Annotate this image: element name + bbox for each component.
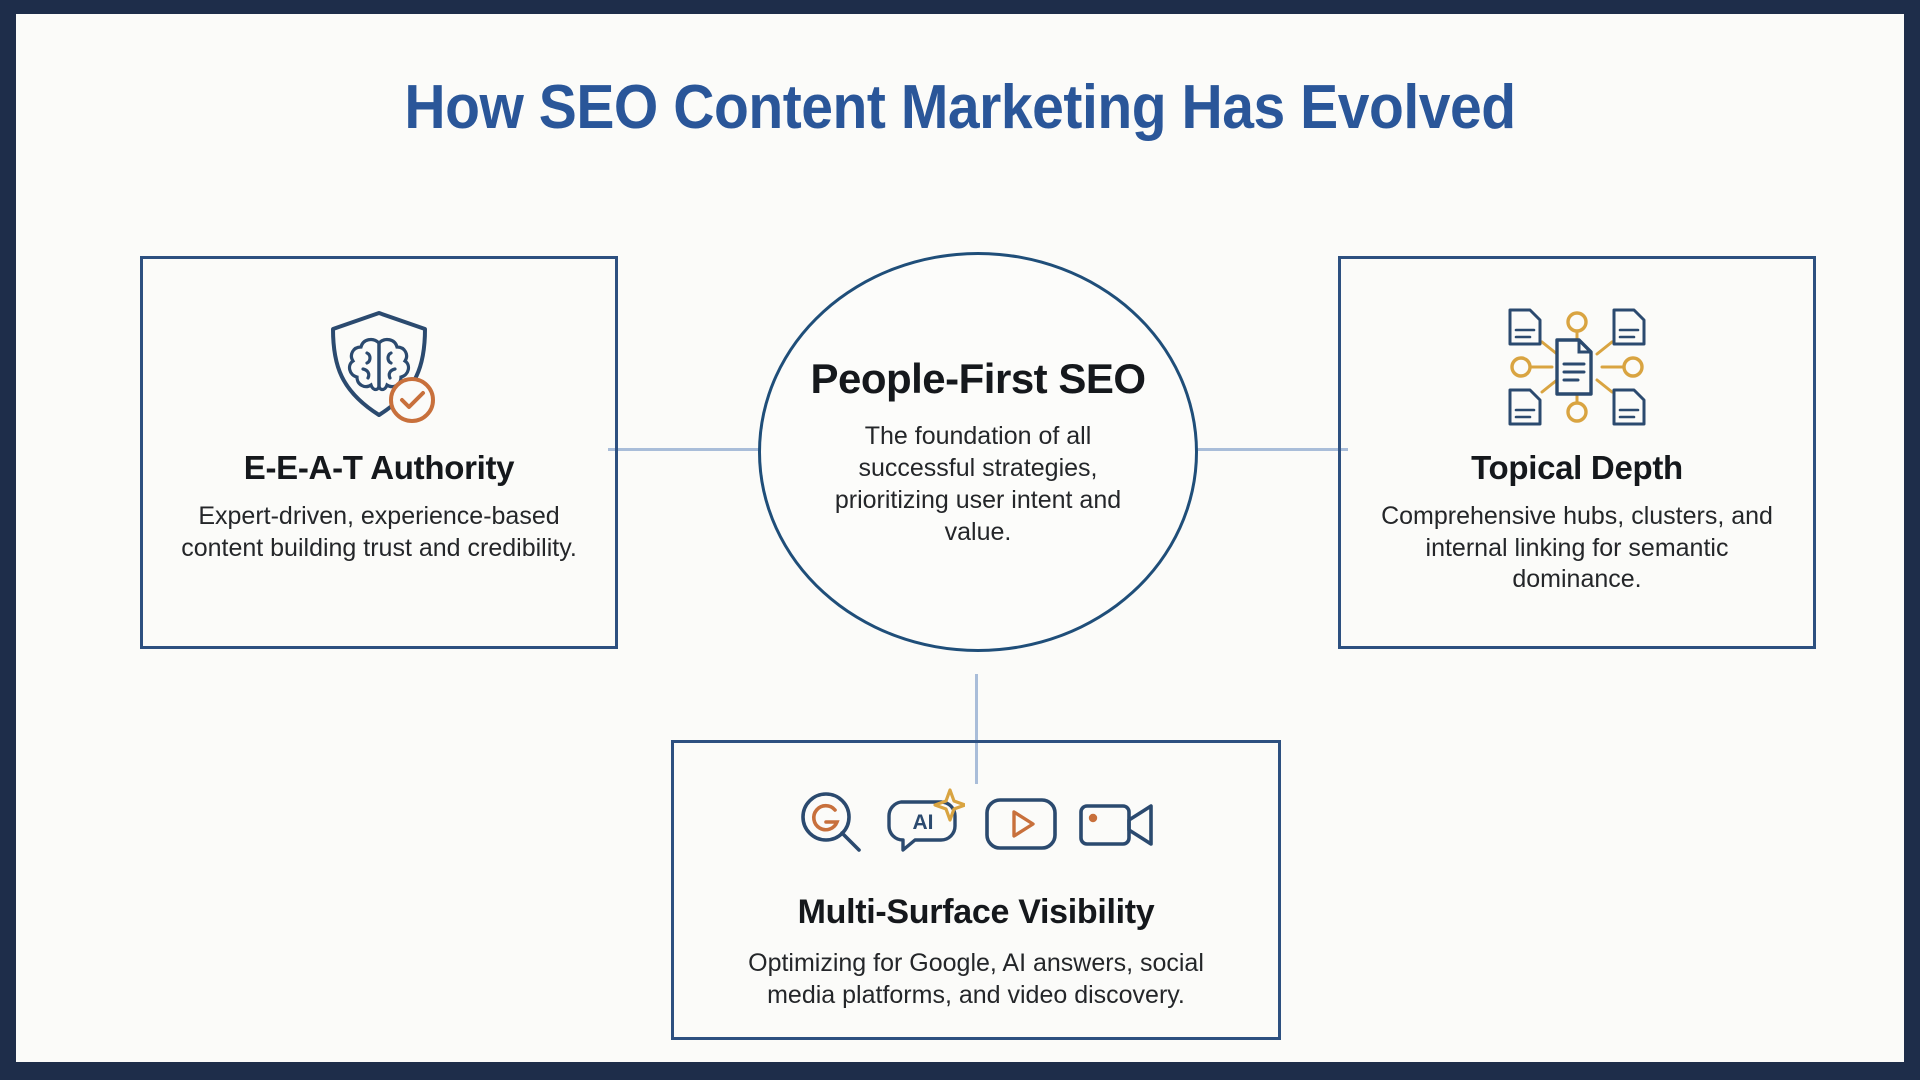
connector-center-to-left [608, 448, 768, 451]
card-description: Comprehensive hubs, clusters, and intern… [1374, 501, 1780, 596]
visibility-icon-row: AI [795, 779, 1157, 871]
card-title: E-E-A-T Authority [244, 449, 514, 487]
card-multi-surface-visibility[interactable]: AI Mul [671, 740, 1281, 1040]
svg-text:AI: AI [913, 811, 934, 834]
center-description: The foundation of all successful strateg… [822, 420, 1134, 548]
google-search-magnifier-icon [795, 786, 869, 865]
document-cluster-network-icon [1502, 303, 1652, 431]
card-title: Multi-Surface Visibility [798, 893, 1155, 932]
card-topical-depth[interactable]: Topical Depth Comprehensive hubs, cluste… [1338, 256, 1816, 649]
infographic-canvas: How SEO Content Marketing Has Evolved [16, 14, 1904, 1062]
center-node-people-first-seo[interactable]: People-First SEO The foundation of all s… [758, 252, 1198, 652]
video-play-icon [983, 792, 1059, 859]
card-title: Topical Depth [1471, 449, 1683, 487]
card-description: Optimizing for Google, AI answers, socia… [734, 948, 1217, 1011]
connector-center-to-right [1188, 448, 1348, 451]
center-title: People-First SEO [809, 356, 1148, 402]
card-description: Expert-driven, experience-based content … [176, 501, 582, 564]
shield-brain-check-icon [313, 303, 445, 431]
video-camera-icon [1077, 792, 1157, 859]
ai-chat-sparkle-icon: AI [887, 786, 965, 865]
page-title: How SEO Content Marketing Has Evolved [92, 72, 1829, 143]
card-eeat-authority[interactable]: E-E-A-T Authority Expert-driven, experie… [140, 256, 618, 649]
infographic-outer-frame: How SEO Content Marketing Has Evolved [0, 0, 1920, 1080]
